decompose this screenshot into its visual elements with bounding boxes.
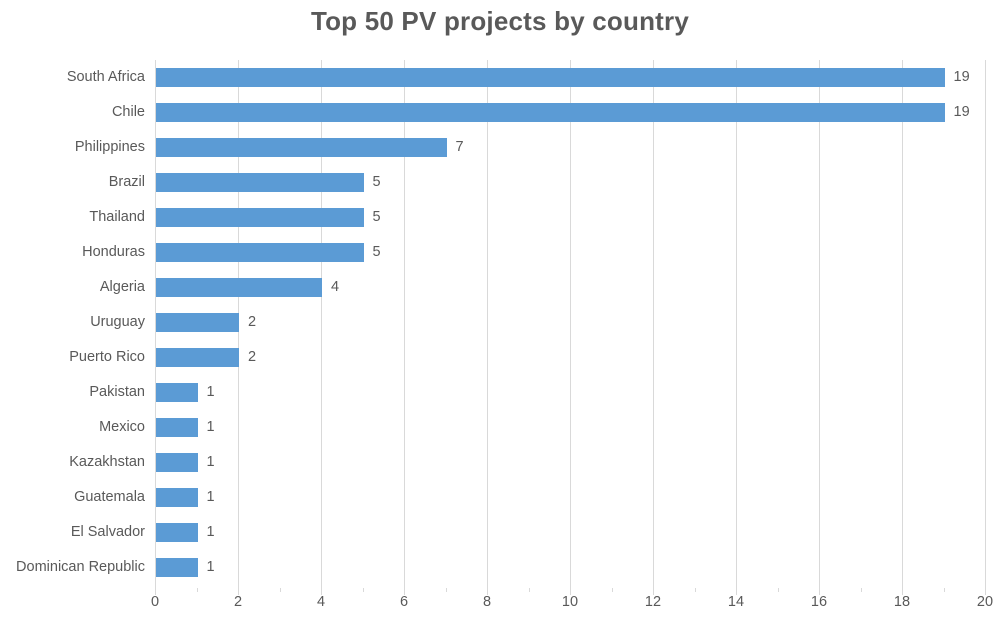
bar[interactable] <box>156 523 198 542</box>
tick-mark-13 <box>695 588 696 592</box>
chart-row: Puerto Rico2 <box>0 340 1000 375</box>
bar-value-label: 1 <box>207 445 215 480</box>
bar-value-label: 7 <box>456 130 464 165</box>
bar[interactable] <box>156 453 198 472</box>
bar-value-label: 4 <box>331 270 339 305</box>
chart-row: Pakistan1 <box>0 375 1000 410</box>
bar[interactable] <box>156 243 364 262</box>
x-tick-label-20: 20 <box>965 594 1000 610</box>
bar-value-label: 5 <box>373 165 381 200</box>
chart-row: Honduras5 <box>0 235 1000 270</box>
category-label: El Salvador <box>0 515 145 550</box>
category-label: Honduras <box>0 235 145 270</box>
category-label: Brazil <box>0 165 145 200</box>
tick-mark-3 <box>280 588 281 592</box>
bar-value-label: 5 <box>373 200 381 235</box>
category-label: Uruguay <box>0 305 145 340</box>
bar[interactable] <box>156 103 945 122</box>
category-label: Algeria <box>0 270 145 305</box>
chart-row: Philippines7 <box>0 130 1000 165</box>
category-label: South Africa <box>0 60 145 95</box>
category-label: Puerto Rico <box>0 340 145 375</box>
chart-row: Guatemala1 <box>0 480 1000 515</box>
chart-row: Mexico1 <box>0 410 1000 445</box>
tick-mark-7 <box>446 588 447 592</box>
chart-row: Kazakhstan1 <box>0 445 1000 480</box>
chart-row: Chile19 <box>0 95 1000 130</box>
x-tick-label-18: 18 <box>882 594 922 610</box>
bar[interactable] <box>156 558 198 577</box>
x-tick-label-0: 0 <box>135 594 175 610</box>
bar-value-label: 2 <box>248 305 256 340</box>
x-tick-label-4: 4 <box>301 594 341 610</box>
chart-row: Brazil5 <box>0 165 1000 200</box>
x-tick-label-2: 2 <box>218 594 258 610</box>
chart-row: Algeria4 <box>0 270 1000 305</box>
tick-mark-9 <box>529 588 530 592</box>
x-tick-label-10: 10 <box>550 594 590 610</box>
chart-row: Thailand5 <box>0 200 1000 235</box>
chart-row: South Africa19 <box>0 60 1000 95</box>
bar[interactable] <box>156 68 945 87</box>
category-label: Dominican Republic <box>0 550 145 585</box>
x-tick-label-8: 8 <box>467 594 507 610</box>
tick-mark-19 <box>944 588 945 592</box>
bar[interactable] <box>156 383 198 402</box>
bar[interactable] <box>156 313 239 332</box>
x-axis-tick-labels: 02468101214161820 <box>0 594 1000 620</box>
bar[interactable] <box>156 488 198 507</box>
bar[interactable] <box>156 418 198 437</box>
category-label: Thailand <box>0 200 145 235</box>
category-label: Kazakhstan <box>0 445 145 480</box>
bar-value-label: 2 <box>248 340 256 375</box>
bar[interactable] <box>156 173 364 192</box>
bar-chart: Top 50 PV projects by country South Afri… <box>0 0 1000 620</box>
x-tick-label-14: 14 <box>716 594 756 610</box>
category-label: Philippines <box>0 130 145 165</box>
chart-row: El Salvador1 <box>0 515 1000 550</box>
chart-row: Dominican Republic1 <box>0 550 1000 585</box>
category-label: Chile <box>0 95 145 130</box>
bar[interactable] <box>156 208 364 227</box>
chart-row: Uruguay2 <box>0 305 1000 340</box>
bar-value-label: 19 <box>954 60 970 95</box>
bar[interactable] <box>156 138 447 157</box>
tick-mark-17 <box>861 588 862 592</box>
category-label: Guatemala <box>0 480 145 515</box>
tick-mark-15 <box>778 588 779 592</box>
bar[interactable] <box>156 348 239 367</box>
bar-value-label: 19 <box>954 95 970 130</box>
chart-title: Top 50 PV projects by country <box>0 6 1000 37</box>
category-label: Pakistan <box>0 375 145 410</box>
bar-value-label: 1 <box>207 480 215 515</box>
bar-value-label: 1 <box>207 550 215 585</box>
tick-mark-5 <box>363 588 364 592</box>
bar-value-label: 5 <box>373 235 381 270</box>
x-tick-label-12: 12 <box>633 594 673 610</box>
bar[interactable] <box>156 278 322 297</box>
x-tick-label-6: 6 <box>384 594 424 610</box>
bar-value-label: 1 <box>207 375 215 410</box>
bar-value-label: 1 <box>207 515 215 550</box>
tick-mark-1 <box>197 588 198 592</box>
x-tick-label-16: 16 <box>799 594 839 610</box>
category-label: Mexico <box>0 410 145 445</box>
bar-value-label: 1 <box>207 410 215 445</box>
tick-mark-11 <box>612 588 613 592</box>
